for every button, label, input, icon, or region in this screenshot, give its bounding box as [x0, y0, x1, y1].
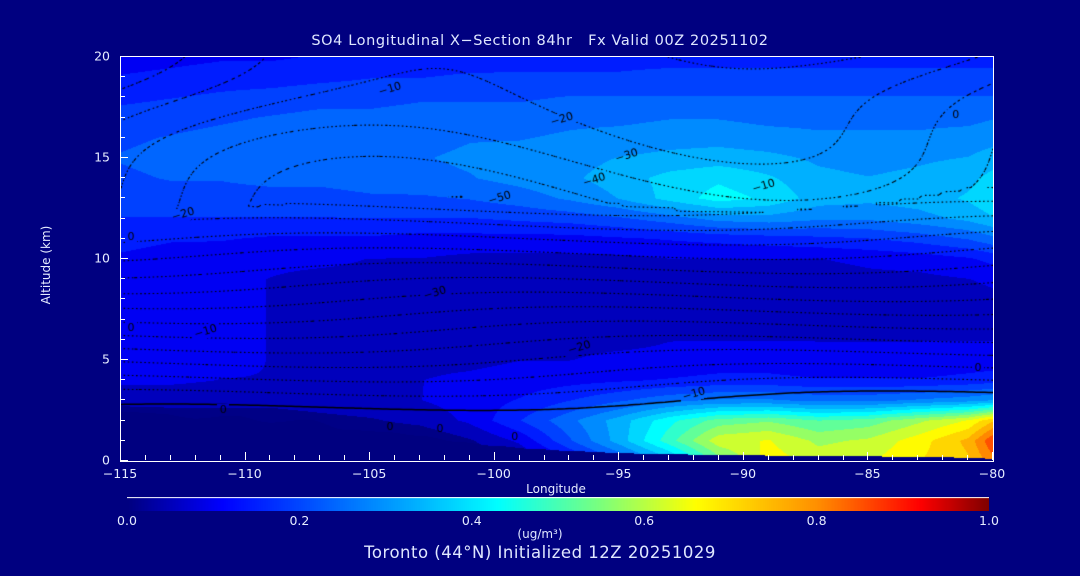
axis-tick — [120, 76, 125, 77]
x-tick-label: −100 — [477, 466, 511, 481]
figure-footer: Toronto (44°N) Initialized 12Z 20251029 — [0, 543, 1080, 562]
axis-tick — [120, 379, 125, 380]
axis-tick — [818, 455, 819, 460]
axis-tick — [444, 455, 445, 460]
axis-tick — [245, 452, 246, 460]
axis-tick — [120, 96, 125, 97]
isotherm-contour-overlay — [121, 57, 993, 461]
axis-tick — [294, 455, 295, 460]
axis-tick — [269, 455, 270, 460]
colorbar — [127, 497, 989, 511]
colorbar-tick-label: 0.6 — [634, 513, 654, 528]
x-tick-label: −80 — [979, 466, 1005, 481]
axis-tick — [992, 452, 993, 460]
y-tick-label: 5 — [76, 352, 110, 367]
colorbar-tick-label: 0.0 — [117, 513, 137, 528]
colorbar-tick-label: 0.4 — [462, 513, 482, 528]
axis-tick — [120, 56, 128, 57]
axis-tick — [618, 452, 619, 460]
y-tick-label: 15 — [76, 150, 110, 165]
axis-tick — [793, 455, 794, 460]
figure-root: SO4 Longitudinal X−Section 84hr Fx Valid… — [0, 0, 1080, 576]
axis-tick — [120, 399, 125, 400]
axis-tick — [668, 455, 669, 460]
axis-tick — [120, 117, 125, 118]
axis-tick — [743, 452, 744, 460]
axis-tick — [220, 455, 221, 460]
axis-tick — [394, 455, 395, 460]
axis-tick — [120, 420, 125, 421]
axis-tick — [120, 197, 125, 198]
axis-tick — [120, 359, 128, 360]
axis-tick — [145, 455, 146, 460]
axis-tick — [892, 455, 893, 460]
figure-title: SO4 Longitudinal X−Section 84hr Fx Valid… — [0, 33, 1080, 49]
x-tick-label: −85 — [854, 466, 880, 481]
colorbar-tick-label: 1.0 — [979, 513, 999, 528]
axis-tick — [967, 455, 968, 460]
axis-tick — [693, 455, 694, 460]
axis-tick — [843, 455, 844, 460]
axis-tick — [120, 258, 128, 259]
axis-tick — [120, 238, 125, 239]
axis-tick — [120, 319, 125, 320]
axis-tick — [195, 455, 196, 460]
x-tick-label: −90 — [730, 466, 756, 481]
axis-tick — [942, 455, 943, 460]
y-axis-title: Altitude (km) — [39, 205, 53, 325]
axis-tick — [120, 440, 125, 441]
cross-section-plot — [120, 56, 994, 462]
y-tick-label: 20 — [76, 49, 110, 64]
axis-tick — [593, 455, 594, 460]
axis-tick — [120, 137, 125, 138]
axis-tick — [120, 157, 128, 158]
field-layer — [121, 57, 993, 461]
axis-tick — [319, 455, 320, 460]
axis-tick — [120, 339, 125, 340]
colorbar-tick-label: 0.8 — [807, 513, 827, 528]
axis-tick — [519, 455, 520, 460]
axis-tick — [469, 455, 470, 460]
axis-tick — [718, 455, 719, 460]
y-tick-label: 0 — [76, 453, 110, 468]
axis-tick — [544, 455, 545, 460]
axis-tick — [917, 455, 918, 460]
axis-tick — [120, 218, 125, 219]
x-tick-label: −95 — [605, 466, 631, 481]
axis-tick — [643, 455, 644, 460]
axis-tick — [120, 177, 125, 178]
axis-tick — [568, 455, 569, 460]
axis-tick — [768, 455, 769, 460]
axis-tick — [867, 452, 868, 460]
axis-tick — [120, 278, 125, 279]
axis-tick — [120, 298, 125, 299]
axis-tick — [344, 455, 345, 460]
y-tick-label: 10 — [76, 251, 110, 266]
x-tick-label: −115 — [103, 466, 137, 481]
axis-tick — [419, 455, 420, 460]
axis-tick — [369, 452, 370, 460]
colorbar-units-label: (ug/m³) — [0, 527, 1080, 541]
colorbar-tick-label: 0.2 — [289, 513, 309, 528]
axis-tick — [170, 455, 171, 460]
colorbar-gradient — [127, 497, 989, 511]
axis-tick — [120, 452, 121, 460]
x-tick-label: −110 — [227, 466, 261, 481]
axis-tick — [120, 460, 128, 461]
x-tick-label: −105 — [352, 466, 386, 481]
axis-tick — [494, 452, 495, 460]
x-axis-title: Longitude — [120, 482, 992, 496]
